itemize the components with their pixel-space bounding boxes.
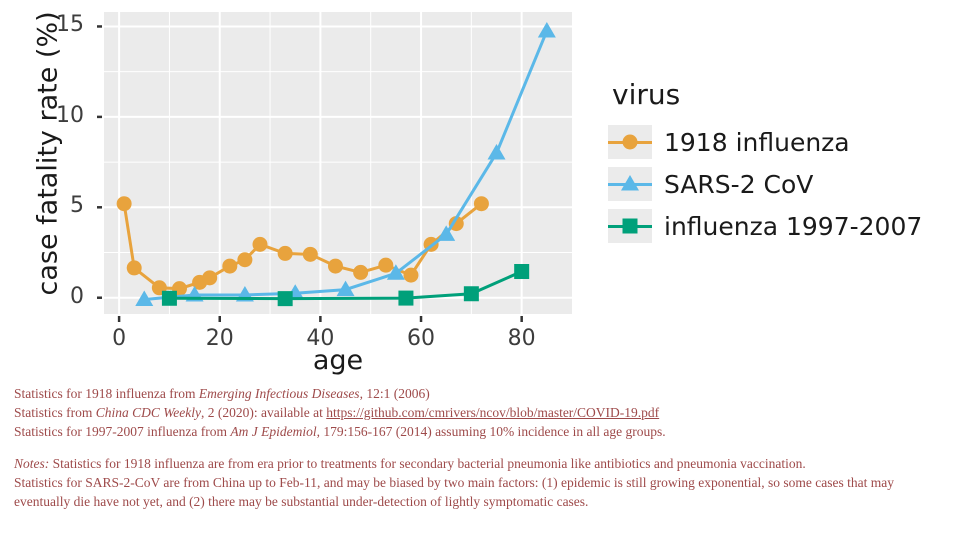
- data-point-circle: [237, 252, 252, 267]
- citation-2-text-b: , 2 (2020): available at: [201, 405, 326, 420]
- citation-3-text-b: , 179:156-167 (2014) assuming 10% incide…: [317, 424, 666, 439]
- data-point-circle: [474, 196, 489, 211]
- note-line-1: Notes: Statistics for 1918 influenza are…: [14, 454, 894, 473]
- note-1-text: Statistics for 1918 influenza are from e…: [49, 456, 806, 471]
- citation-1-text-a: Statistics for 1918 influenza from: [14, 386, 199, 401]
- legend-item-label: SARS-2 CoV: [664, 170, 813, 199]
- x-tick-label: 20: [197, 326, 243, 351]
- data-point-circle: [127, 260, 142, 275]
- data-point-square: [162, 291, 177, 306]
- data-point-circle: [623, 135, 638, 150]
- citation-1-journal: Emerging Infectious Diseases: [199, 386, 360, 401]
- data-point-circle: [328, 259, 343, 274]
- y-axis-title: case fatality rate (%): [33, 16, 64, 296]
- citation-2-journal: China CDC Weekly: [96, 405, 201, 420]
- x-tick-label: 0: [96, 326, 142, 351]
- data-point-circle: [303, 247, 318, 262]
- data-point-triangle: [621, 175, 639, 190]
- data-point-circle: [202, 270, 217, 285]
- notes-block: Notes: Statistics for 1918 influenza are…: [14, 454, 894, 511]
- x-tick-label: 40: [297, 326, 343, 351]
- chart-figure: case fatality rate (%) age 0510150204060…: [0, 0, 960, 378]
- legend-item-2[interactable]: SARS-2 CoV: [608, 163, 948, 205]
- citation-line-3: Statistics for 1997-2007 influenza from …: [14, 422, 666, 441]
- y-tick-label: 15: [38, 12, 84, 37]
- citation-2-text-a: Statistics from: [14, 405, 96, 420]
- legend-key-swatch: [608, 209, 652, 243]
- data-point-square: [398, 291, 413, 306]
- y-tick-label: 10: [38, 103, 84, 128]
- citation-3-journal: Am J Epidemiol: [230, 424, 316, 439]
- data-point-square: [514, 264, 529, 279]
- data-point-circle: [403, 268, 418, 283]
- data-point-circle: [353, 265, 368, 280]
- y-tick-label: 0: [38, 284, 84, 309]
- legend-key-marker-square-icon: [608, 209, 652, 243]
- citation-3-text-a: Statistics for 1997-2007 influenza from: [14, 424, 230, 439]
- legend-key-swatch: [608, 167, 652, 201]
- legend-item-1[interactable]: 1918 influenza: [608, 121, 948, 163]
- data-point-circle: [278, 246, 293, 261]
- citations-block: Statistics for 1918 influenza from Emerg…: [14, 384, 666, 441]
- legend-title: virus: [608, 78, 948, 111]
- legend-key-marker-circle-icon: [608, 125, 652, 159]
- data-point-circle: [222, 259, 237, 274]
- legend-key-swatch: [608, 125, 652, 159]
- citation-1-text-b: , 12:1 (2006): [360, 386, 430, 401]
- data-point-square: [278, 291, 293, 306]
- legend-item-label: 1918 influenza: [664, 128, 850, 157]
- legend-item-3[interactable]: influenza 1997-2007: [608, 205, 948, 247]
- legend-item-label: influenza 1997-2007: [664, 212, 922, 241]
- x-tick-label: 80: [499, 326, 545, 351]
- citation-line-1: Statistics for 1918 influenza from Emerg…: [14, 384, 666, 403]
- x-tick-label: 60: [398, 326, 444, 351]
- data-point-square: [623, 219, 638, 234]
- chart-legend: virus 1918 influenzaSARS-2 CoVinfluenza …: [608, 78, 948, 247]
- legend-key-marker-triangle-icon: [608, 167, 652, 201]
- notes-label: Notes:: [14, 456, 49, 471]
- note-line-3: eventually die have not yet, and (2) the…: [14, 492, 894, 511]
- data-point-circle: [253, 237, 268, 252]
- citation-line-2: Statistics from China CDC Weekly, 2 (202…: [14, 403, 666, 422]
- note-line-2: Statistics for SARS-2-CoV are from China…: [14, 473, 894, 492]
- y-tick-label: 5: [38, 193, 84, 218]
- data-point-circle: [378, 258, 393, 273]
- data-point-square: [464, 286, 479, 301]
- data-point-circle: [117, 196, 132, 211]
- covid-19-pdf-link[interactable]: https://github.com/cmrivers/ncov/blob/ma…: [326, 405, 659, 420]
